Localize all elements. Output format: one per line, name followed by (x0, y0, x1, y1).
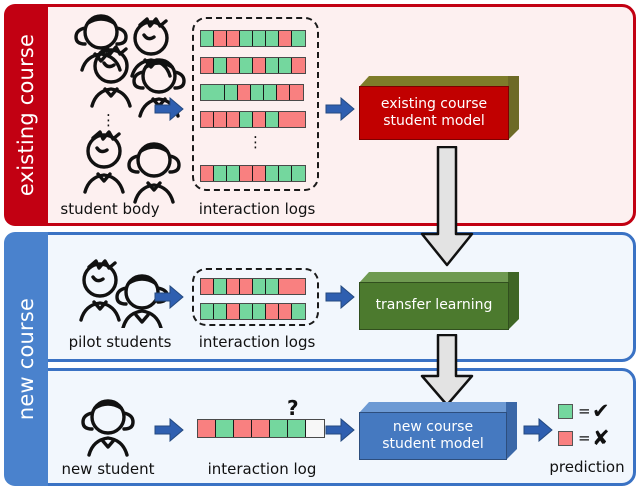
unknown-marker: ? (287, 396, 299, 420)
band-new-course-label: new course (14, 298, 38, 420)
log-cell (227, 112, 240, 127)
caption-interaction-logs-existing: interaction logs (192, 200, 322, 218)
caption-student-body: student body (50, 200, 170, 218)
down-arrow-icon-2 (417, 334, 477, 408)
model-label-line2: student model (382, 436, 484, 454)
log-row (200, 165, 306, 182)
log-cell (253, 58, 266, 73)
check-icon: ✔ (592, 399, 610, 423)
log-cell (266, 166, 279, 181)
log-cell (279, 31, 292, 46)
log-cell (214, 58, 227, 73)
log-cell (227, 304, 240, 319)
legend-swatch-correct (558, 404, 573, 419)
log-cell (227, 31, 240, 46)
log-cell (214, 112, 227, 127)
caption-new-student: new student (48, 460, 168, 478)
log-cell (290, 85, 303, 100)
transfer-learning-box[interactable]: transfer learning (359, 272, 519, 330)
log-row-prediction (197, 419, 325, 438)
log-cell (277, 85, 290, 100)
log-cell (214, 31, 227, 46)
diagram-canvas: existing course (0, 0, 640, 490)
right-arrow-icon-to-transfer (325, 285, 355, 309)
box-side-face (508, 272, 519, 330)
log-cell (240, 31, 253, 46)
log-cell (252, 420, 270, 437)
new-course-student-model-box[interactable]: new course student model (359, 402, 517, 460)
log-cell (214, 304, 227, 319)
log-cell (240, 304, 253, 319)
log-cell (201, 85, 225, 100)
log-cell (253, 304, 266, 319)
right-arrow-icon-to-existing-model (325, 97, 355, 121)
log-cell (288, 420, 306, 437)
log-cell (201, 112, 214, 127)
log-cell (227, 279, 240, 294)
caption-interaction-log: interaction log (192, 460, 332, 478)
legend-swatch-incorrect (558, 431, 573, 446)
log-cell (214, 166, 227, 181)
log-row (200, 30, 306, 47)
model-label-line1: existing course (381, 96, 487, 114)
log-cell (240, 112, 253, 127)
transfer-learning-label: transfer learning (376, 297, 493, 315)
log-cell (279, 304, 292, 319)
log-cell (216, 420, 234, 437)
log-cell (266, 112, 279, 127)
log-cell (240, 166, 253, 181)
log-cell-unknown (306, 420, 324, 437)
box-side-face (508, 76, 519, 140)
log-cell (279, 58, 292, 73)
box-side-face (506, 402, 517, 460)
existing-course-student-model-box[interactable]: existing course student model (359, 76, 519, 140)
legend-equals-correct: = (578, 402, 591, 420)
band-existing-course: existing course (4, 4, 48, 226)
log-cell (227, 58, 240, 73)
logs-ellipsis-existing: ⋮ (248, 140, 262, 145)
log-cell (201, 279, 214, 294)
log-cell (240, 279, 253, 294)
log-cell (292, 31, 305, 46)
log-row (200, 84, 304, 101)
log-cell (253, 112, 266, 127)
cross-icon: ✘ (592, 426, 610, 450)
right-arrow-icon-pilot (154, 285, 184, 309)
right-arrow-icon-existing (154, 97, 184, 121)
right-arrow-icon-to-new-model (325, 418, 355, 442)
caption-interaction-logs-new: interaction logs (192, 333, 322, 351)
right-arrow-icon-new-student (154, 418, 184, 442)
log-row (200, 278, 306, 295)
log-cell (201, 166, 214, 181)
log-row (200, 303, 306, 320)
log-cell (266, 58, 279, 73)
log-cell (198, 420, 216, 437)
down-arrow-icon-1 (417, 146, 477, 268)
log-cell (240, 58, 253, 73)
log-cell (227, 166, 240, 181)
new-student-icon (73, 395, 143, 457)
log-cell (279, 279, 305, 294)
log-cell (279, 112, 305, 127)
caption-pilot-students: pilot students (50, 333, 190, 351)
box-front-face: existing course student model (359, 86, 509, 140)
log-cell (279, 166, 292, 181)
band-existing-course-label: existing course (14, 34, 38, 196)
log-cell (266, 31, 279, 46)
log-cell (234, 420, 252, 437)
model-label-line1: new course (393, 419, 473, 437)
log-cell (292, 304, 305, 319)
log-cell (214, 279, 227, 294)
log-cell (251, 85, 264, 100)
log-cell (201, 31, 214, 46)
log-cell (266, 304, 279, 319)
legend-equals-incorrect: = (578, 429, 591, 447)
right-arrow-icon-to-prediction (523, 418, 553, 442)
log-cell (292, 166, 305, 181)
log-cell (238, 85, 251, 100)
log-cell (253, 166, 266, 181)
log-cell (201, 58, 214, 73)
box-front-face: transfer learning (359, 282, 509, 330)
log-cell (292, 58, 305, 73)
log-cell (270, 420, 288, 437)
log-cell (253, 31, 266, 46)
log-cell (253, 279, 266, 294)
log-cell (225, 85, 238, 100)
band-new-course: new course (4, 232, 48, 486)
caption-prediction: prediction (537, 458, 637, 476)
log-cell (266, 279, 279, 294)
log-cell (201, 304, 214, 319)
box-front-face: new course student model (359, 412, 507, 460)
log-row (200, 57, 306, 74)
log-cell (264, 85, 277, 100)
log-row (200, 111, 306, 128)
students-ellipsis-existing: ⋮ (101, 118, 115, 123)
model-label-line2: student model (383, 113, 485, 131)
